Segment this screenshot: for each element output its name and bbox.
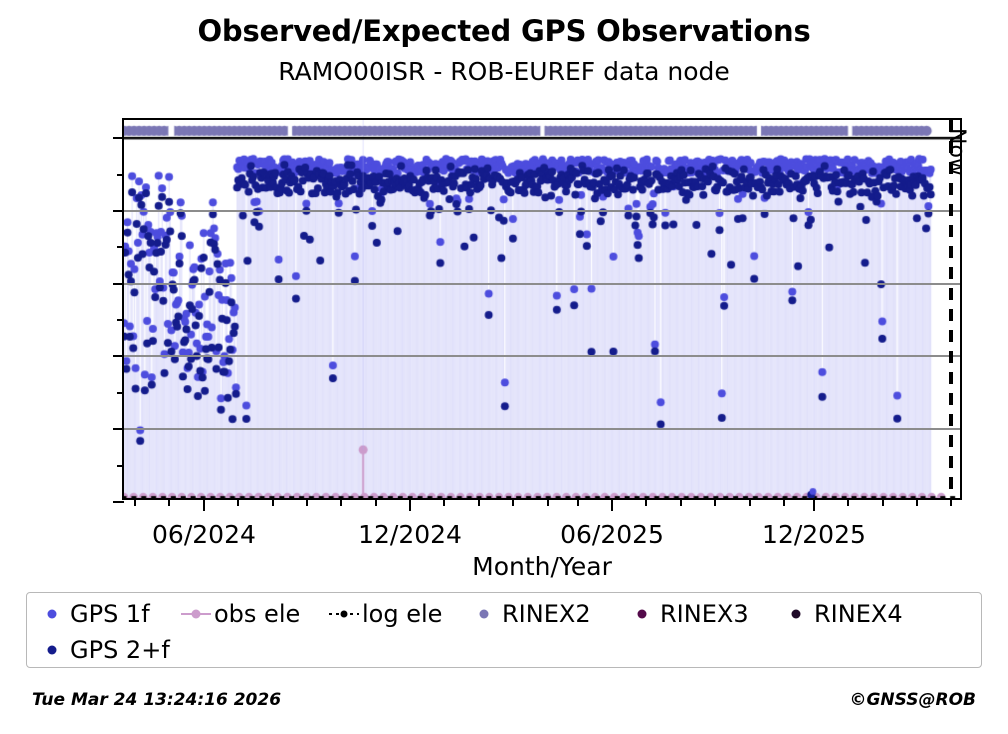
x-tick-minor — [714, 498, 716, 506]
legend-label: RINEX2 — [501, 600, 591, 628]
x-tick-minor — [847, 498, 849, 506]
scatter-canvas — [124, 120, 960, 498]
x-tick-minor — [916, 498, 918, 506]
x-tick-label: 12/2024 — [358, 520, 462, 549]
legend-item-rinex4[interactable]: RINEX4 — [779, 600, 903, 628]
x-tick-label: 06/2024 — [152, 520, 256, 549]
legend: GPS 1fobs elelog eleRINEX2RINEX3RINEX4GP… — [26, 592, 982, 668]
chart-page: Observed/Expected GPS Observations RAMO0… — [0, 0, 1008, 734]
x-tick-minor — [237, 498, 239, 506]
x-tick-minor — [272, 498, 274, 506]
footer-copyright: ©GNSS@ROB — [849, 690, 976, 710]
plot-area: 02040608010006/202412/202406/202512/2025… — [122, 118, 962, 500]
legend-item-rinex3[interactable]: RINEX3 — [625, 600, 749, 628]
x-tick-major — [409, 498, 411, 511]
legend-marker-icon — [327, 605, 361, 623]
now-line — [949, 120, 953, 498]
x-axis-label: Month/Year — [122, 552, 962, 581]
gridline — [124, 355, 960, 357]
y-tick-minor — [117, 319, 124, 321]
x-tick-minor — [645, 498, 647, 506]
page-subtitle: RAMO00ISR - ROB-EUREF data node — [0, 57, 1008, 86]
x-tick-label: 06/2025 — [560, 520, 664, 549]
x-tick-minor — [134, 498, 136, 506]
x-tick-major — [813, 498, 815, 511]
y-tick-minor — [117, 392, 124, 394]
legend-label: RINEX3 — [659, 600, 749, 628]
x-tick-major — [611, 498, 613, 511]
x-tick-minor — [950, 498, 952, 506]
x-tick-minor — [749, 498, 751, 506]
footer-timestamp: Tue Mar 24 13:24:16 2026 — [32, 690, 281, 710]
y-tick-minor — [117, 174, 124, 176]
x-tick-minor — [882, 498, 884, 506]
legend-row: GPS 2+f — [27, 631, 981, 669]
y-tick-major — [113, 137, 124, 139]
legend-label: GPS 1f — [69, 600, 150, 628]
legend-marker-icon — [625, 605, 659, 623]
y-tick-major — [113, 210, 124, 212]
y-tick-major — [113, 283, 124, 285]
legend-marker-icon — [179, 605, 213, 623]
y-tick-major — [113, 355, 124, 357]
page-title: Observed/Expected GPS Observations — [0, 14, 1008, 48]
x-tick-minor — [547, 498, 549, 506]
legend-item-rinex2[interactable]: RINEX2 — [467, 600, 591, 628]
legend-marker-icon — [779, 605, 813, 623]
y-tick-major — [113, 501, 124, 503]
x-tick-minor — [680, 498, 682, 506]
legend-marker-icon — [35, 605, 69, 623]
legend-marker-icon — [467, 605, 501, 623]
legend-label: RINEX4 — [813, 600, 903, 628]
legend-row: GPS 1fobs elelog eleRINEX2RINEX3RINEX4 — [27, 595, 981, 633]
x-tick-minor — [512, 498, 514, 506]
gridline — [124, 428, 960, 430]
legend-item-gps-2-f[interactable]: GPS 2+f — [35, 636, 170, 664]
y-tick-major — [113, 428, 124, 430]
x-tick-label: 12/2025 — [762, 520, 866, 549]
x-tick-minor — [340, 498, 342, 506]
x-tick-major — [203, 498, 205, 511]
y-tick-minor — [117, 246, 124, 248]
legend-label: obs ele — [213, 600, 300, 628]
now-label: Now — [944, 128, 969, 176]
gridline — [124, 283, 960, 285]
gridline — [124, 210, 960, 212]
x-tick-minor — [577, 498, 579, 506]
x-tick-minor — [783, 498, 785, 506]
x-tick-minor — [478, 498, 480, 506]
x-tick-minor — [443, 498, 445, 506]
legend-label: log ele — [361, 600, 442, 628]
x-tick-minor — [375, 498, 377, 506]
legend-marker-icon — [35, 641, 69, 659]
x-tick-minor — [168, 498, 170, 506]
legend-item-log-ele[interactable]: log ele — [327, 600, 442, 628]
legend-item-obs-ele[interactable]: obs ele — [179, 600, 300, 628]
x-tick-minor — [306, 498, 308, 506]
legend-label: GPS 2+f — [69, 636, 170, 664]
legend-item-gps-1f[interactable]: GPS 1f — [35, 600, 150, 628]
y-tick-minor — [117, 465, 124, 467]
